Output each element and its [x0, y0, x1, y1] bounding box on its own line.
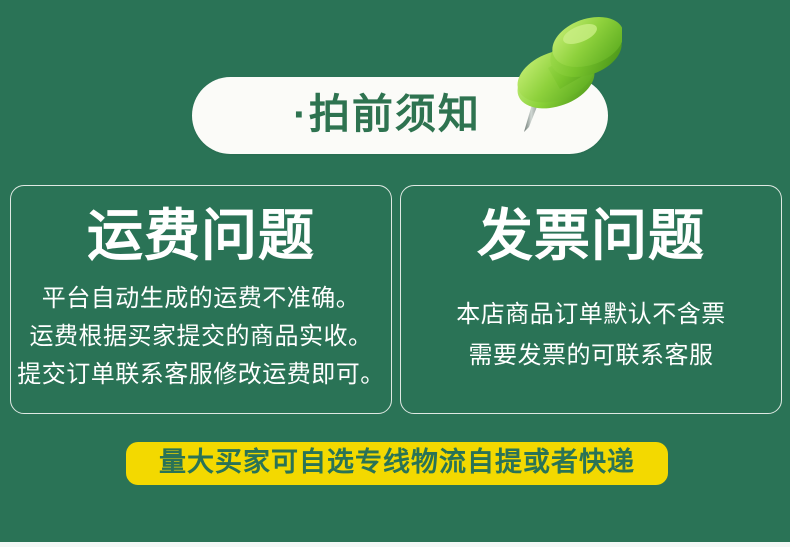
- card-invoice-body: 本店商品订单默认不含票 需要发票的可联系客服: [401, 294, 781, 376]
- card-shipping-body: 平台自动生成的运费不准确。 运费根据买家提交的商品实收。 提交订单联系客服修改运…: [11, 280, 391, 394]
- header-pill-content: ·拍前须知: [192, 77, 608, 154]
- card-shipping-line-1: 平台自动生成的运费不准确。: [42, 280, 361, 318]
- card-invoice-line-2: 需要发票的可联系客服: [469, 335, 714, 376]
- card-shipping: 运费问题 平台自动生成的运费不准确。 运费根据买家提交的商品实收。 提交订单联系…: [10, 185, 392, 414]
- logistics-banner: 量大买家可自选专线物流自提或者快递: [126, 442, 668, 485]
- card-shipping-title: 运费问题: [87, 208, 315, 264]
- notice-page: ·拍前须知: [0, 0, 790, 547]
- info-cards: 运费问题 平台自动生成的运费不准确。 运费根据买家提交的商品实收。 提交订单联系…: [10, 185, 782, 414]
- page-title: ·拍前须知: [293, 94, 481, 135]
- card-invoice-title: 发票问题: [477, 208, 705, 264]
- logistics-banner-text: 量大买家可自选专线物流自提或者快递: [159, 449, 635, 476]
- card-invoice-line-1: 本店商品订单默认不含票: [456, 294, 726, 335]
- card-shipping-line-3: 提交订单联系客服修改运费即可。: [17, 356, 385, 394]
- card-shipping-line-2: 运费根据买家提交的商品实收。: [30, 318, 373, 356]
- card-invoice: 发票问题 本店商品订单默认不含票 需要发票的可联系客服: [400, 185, 782, 414]
- bottom-edge-strip: [0, 542, 790, 547]
- header-pill: ·拍前须知: [192, 77, 608, 154]
